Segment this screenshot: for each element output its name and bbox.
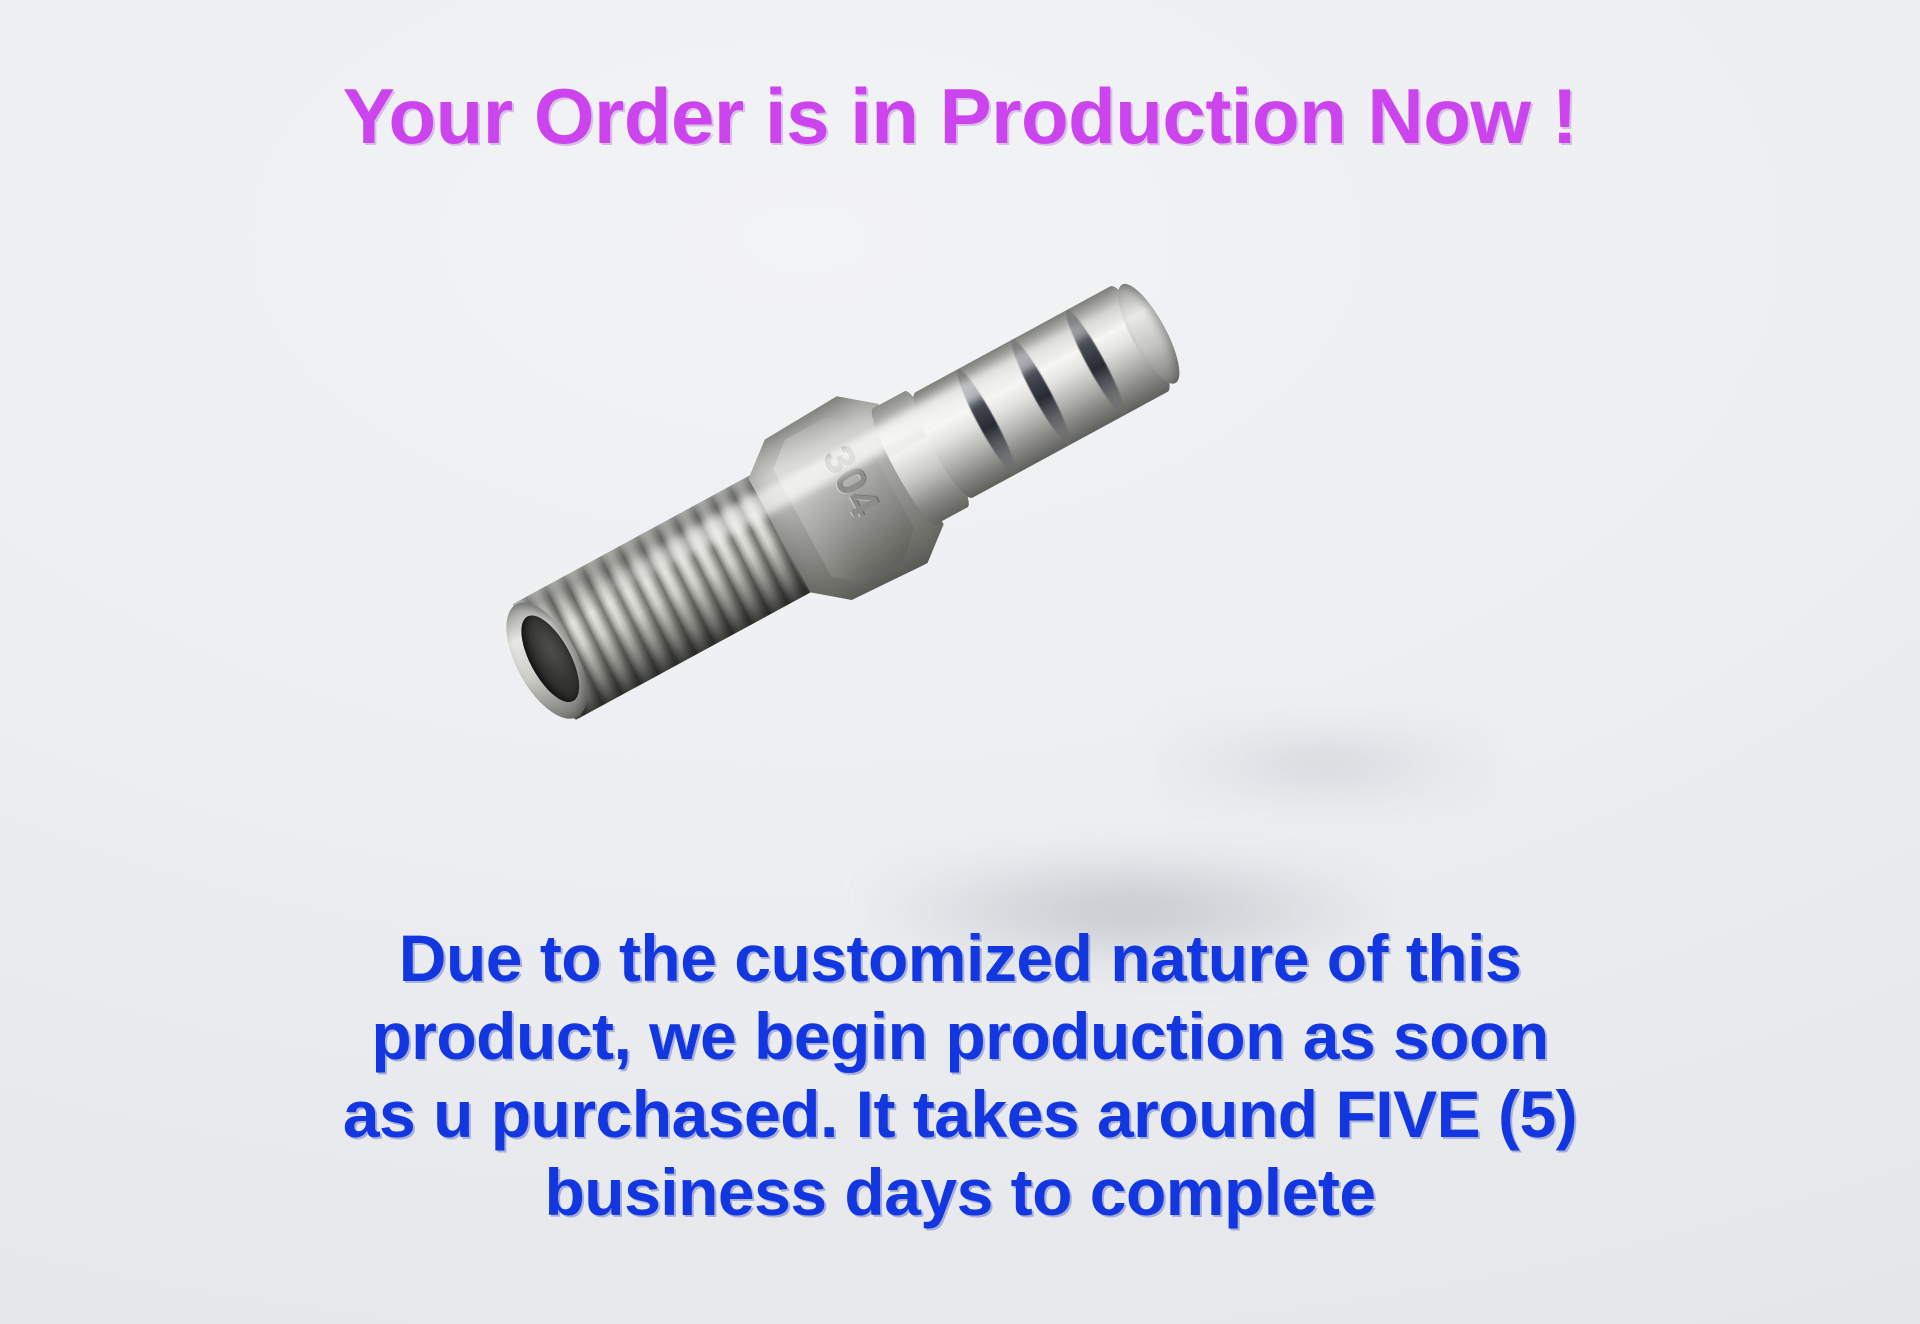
- hose-barb-fitting-illustration: 304: [327, 81, 1313, 939]
- notice-line-1: Due to the customized nature of this: [0, 920, 1920, 998]
- product-drop-shadow-secondary: [1160, 720, 1490, 810]
- notice-line-2: product, we begin production as soon: [0, 998, 1920, 1076]
- notice-line-4: business days to complete: [0, 1154, 1920, 1232]
- promotional-poster: Your Order is in Production Now ! 304 Du…: [0, 0, 1920, 1324]
- production-notice: Due to the customized nature of this pro…: [0, 920, 1920, 1232]
- notice-line-3: as u purchased. It takes around FIVE (5): [0, 1076, 1920, 1154]
- product-photo: 304: [400, 250, 1240, 770]
